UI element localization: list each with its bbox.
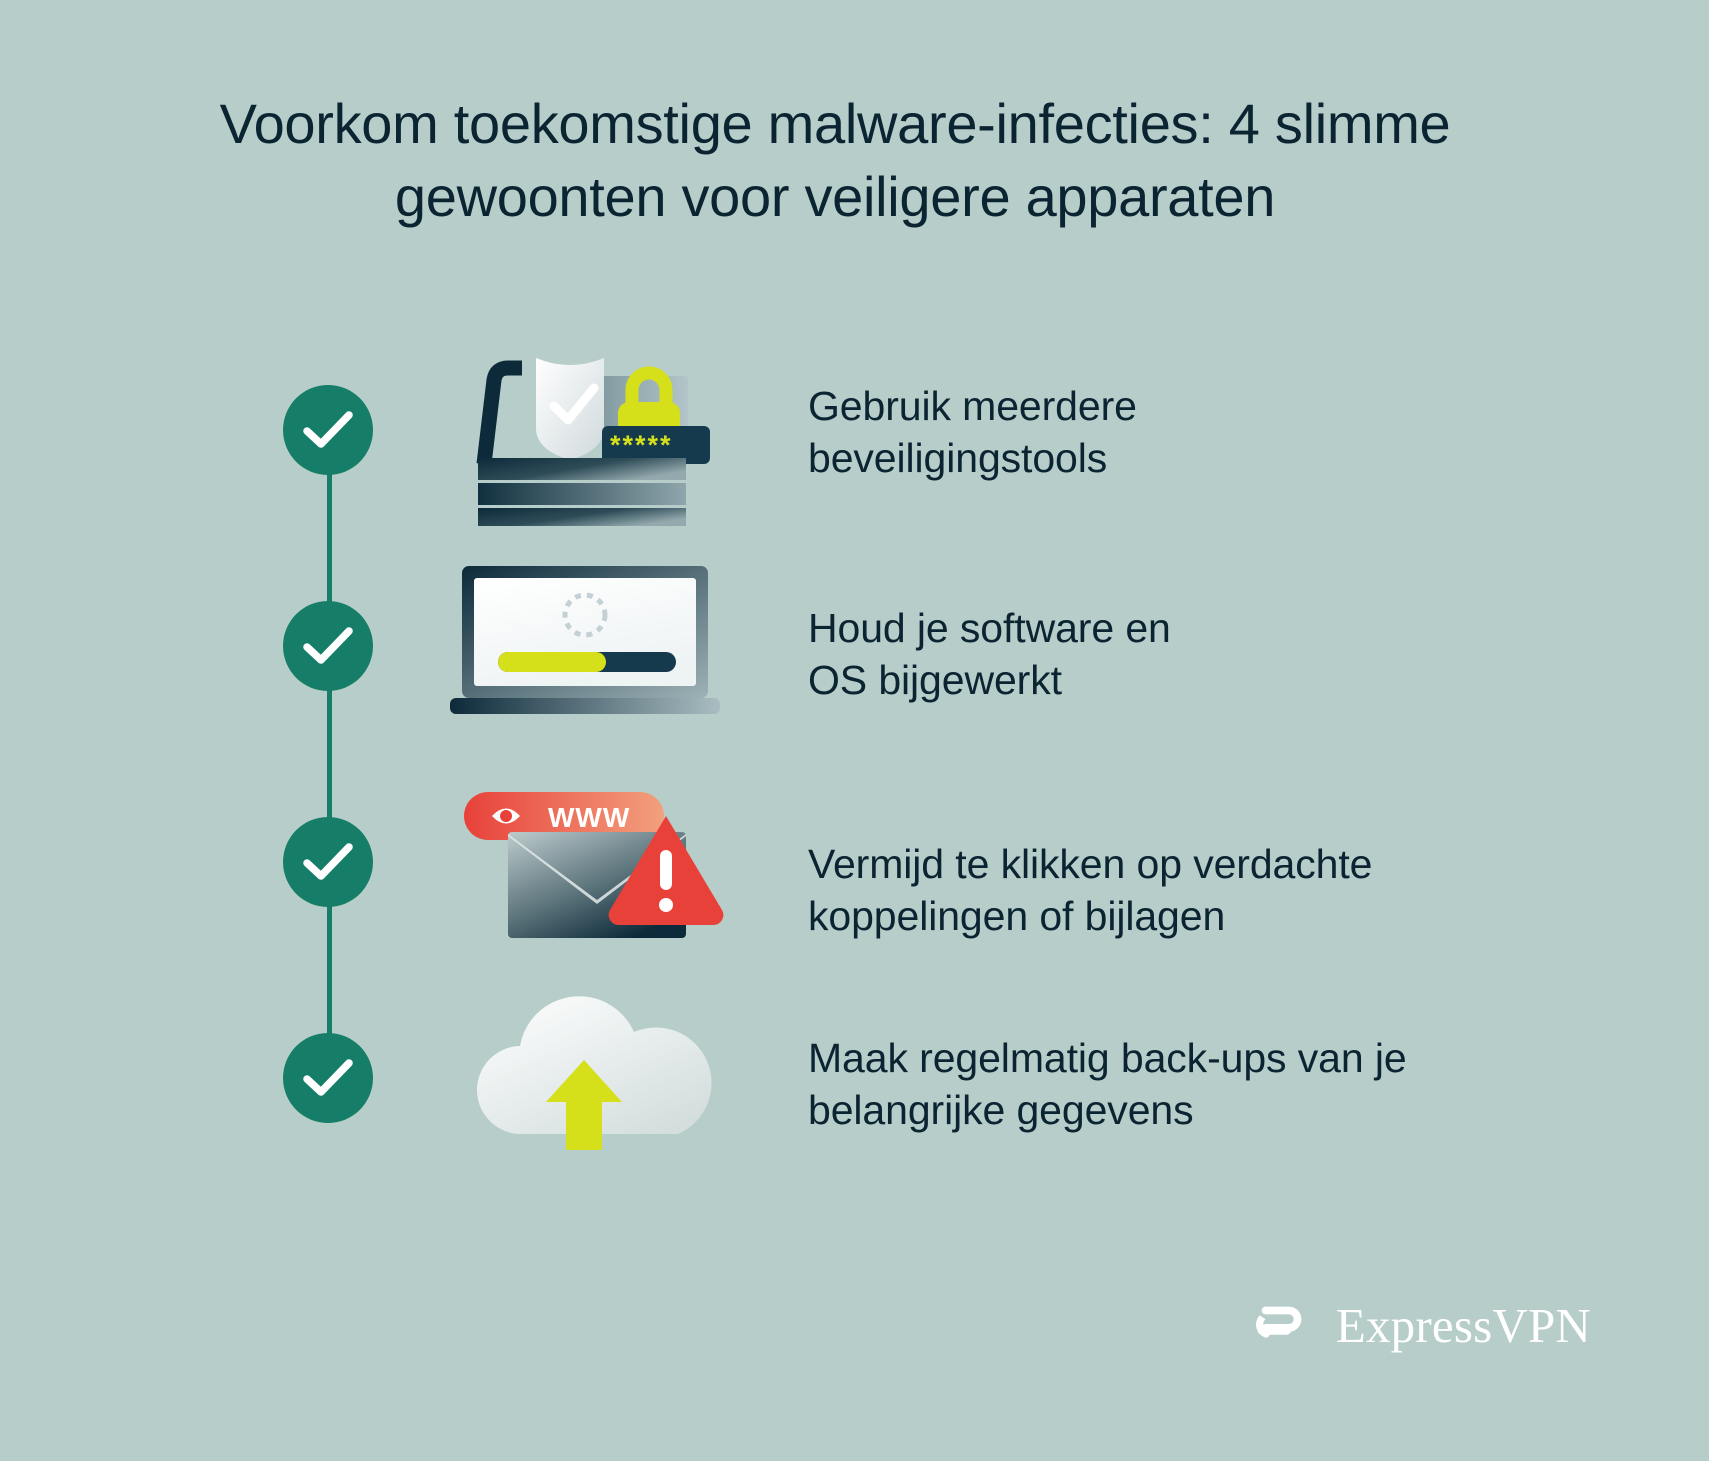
- email-suspicious-link-warning-icon: WWW: [450, 788, 740, 953]
- list-item-1-line-2: beveiligingstools: [808, 432, 1568, 484]
- expressvpn-logo-icon: [1252, 1294, 1314, 1356]
- list-item-1-line-1: Gebruik meerdere: [808, 380, 1568, 432]
- list-item-2-text: Houd je software en OS bijgewerkt: [808, 602, 1568, 707]
- timeline-connector-line: [327, 435, 332, 1090]
- list-item-2-line-1: Houd je software en: [808, 602, 1568, 654]
- infographic-page: Voorkom toekomstige malware-infecties: 4…: [0, 0, 1709, 1461]
- timeline-check-3: [283, 817, 373, 907]
- list-item-1-text: Gebruik meerdere beveiligingstools: [808, 380, 1568, 485]
- cloud-upload-illustration: [450, 990, 740, 1150]
- timeline: [283, 385, 373, 1130]
- list-item-4-line-2: belangrijke gegevens: [808, 1084, 1568, 1136]
- expressvpn-logo-text: ExpressVPN: [1336, 1301, 1591, 1350]
- email-warning-illustration: WWW: [450, 788, 730, 948]
- page-title-line-1: Voorkom toekomstige malware-infecties: 4…: [120, 88, 1550, 161]
- timeline-check-4: [283, 1033, 373, 1123]
- list-item-2-line-2: OS bijgewerkt: [808, 654, 1568, 706]
- page-title: Voorkom toekomstige malware-infecties: 4…: [120, 88, 1550, 234]
- list-item-3-text: Vermijd te klikken op verdachte koppelin…: [808, 838, 1568, 943]
- check-icon: [303, 627, 353, 665]
- cloud-backup-upload-icon: [450, 990, 740, 1155]
- laptop-update-progress-icon: [450, 560, 740, 735]
- password-mask-text: *****: [610, 430, 673, 460]
- list-item-4-text: Maak regelmatig back-ups van je belangri…: [808, 1032, 1568, 1137]
- toolbox-shield-lock-illustration: *****: [450, 318, 710, 528]
- check-icon: [303, 411, 353, 449]
- list-item-3-line-2: koppelingen of bijlagen: [808, 890, 1568, 942]
- timeline-check-2: [283, 601, 373, 691]
- url-bar-text: WWW: [548, 802, 630, 833]
- timeline-check-1: [283, 385, 373, 475]
- toolbox-shield-lock-icon: *****: [450, 318, 740, 533]
- check-icon: [303, 843, 353, 881]
- expressvpn-logo[interactable]: ExpressVPN: [1252, 1294, 1591, 1356]
- check-icon: [303, 1059, 353, 1097]
- list-item-3-line-1: Vermijd te klikken op verdachte: [808, 838, 1568, 890]
- laptop-update-illustration: [450, 560, 720, 730]
- page-title-line-2: gewoonten voor veiligere apparaten: [120, 161, 1550, 234]
- list-item-4-line-1: Maak regelmatig back-ups van je: [808, 1032, 1568, 1084]
